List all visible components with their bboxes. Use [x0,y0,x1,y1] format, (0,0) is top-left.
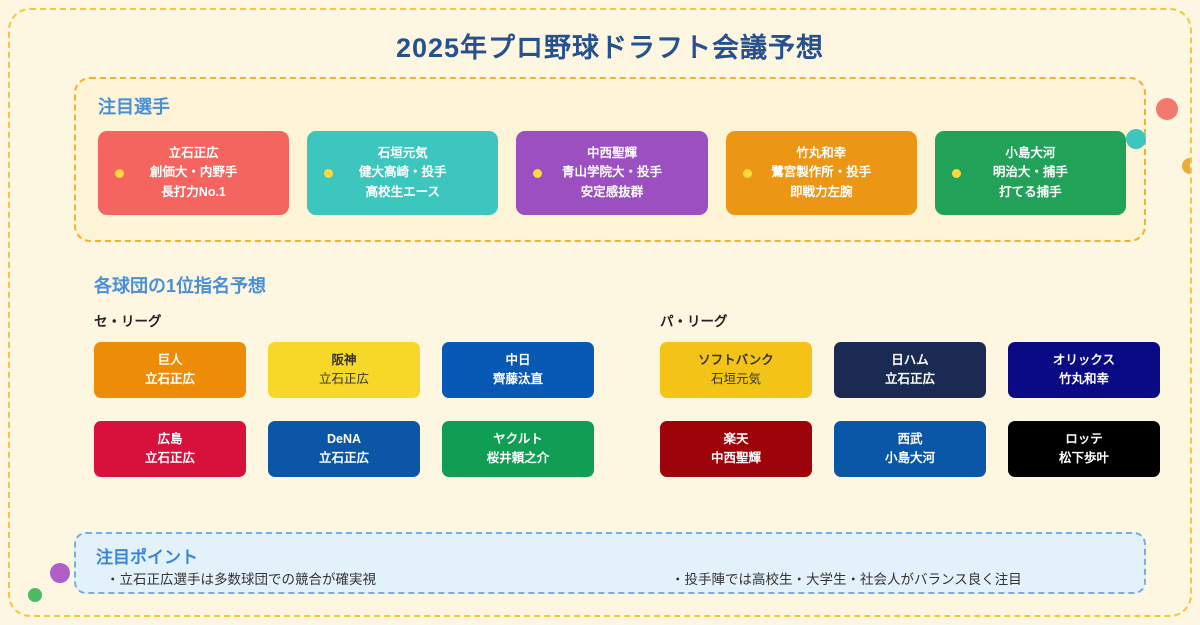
player-note: 安定感抜群 [581,183,644,202]
player-name: 中西聖輝 [587,144,637,163]
decorative-dot-orange [1182,158,1192,174]
bullet-dot-icon [533,169,542,178]
team-card[interactable]: オリックス竹丸和幸 [1008,342,1160,398]
team-card[interactable]: 巨人立石正広 [94,342,246,398]
featured-players-row: 立石正広創価大・内野手長打力No.1石垣元気健大高崎・投手高校生エース中西聖輝青… [98,131,1126,215]
league-pacific-label: パ・リーグ [660,310,1160,330]
team-card[interactable]: DeNA立石正広 [268,421,420,477]
team-pick: 石垣元気 [711,370,761,389]
notes-items: ・立石正広選手は多数球団での競合が確実視・投手陣では高校生・大学生・社会人がバラ… [106,568,1116,588]
decorative-dot-pink [1156,98,1178,120]
team-card[interactable]: 中日齊藤汰直 [442,342,594,398]
bullet-dot-icon [324,169,333,178]
featured-players-heading: 注目選手 [98,93,170,119]
team-card[interactable]: 楽天中西聖輝 [660,421,812,477]
team-name: 日ハム [891,351,929,370]
player-name: 竹丸和幸 [796,144,846,163]
league-pacific-grid: ソフトバンク石垣元気日ハム立石正広オリックス竹丸和幸楽天中西聖輝西武小島大河ロッ… [660,342,1160,477]
team-name: オリックス [1053,351,1115,370]
team-card[interactable]: 日ハム立石正広 [834,342,986,398]
team-pick: 松下歩叶 [1059,449,1109,468]
team-card[interactable]: 西武小島大河 [834,421,986,477]
team-pick: 桜井頼之介 [487,449,550,468]
featured-players-panel: 注目選手 立石正広創価大・内野手長打力No.1石垣元気健大高崎・投手高校生エース… [74,77,1146,242]
note-item: ・投手陣では高校生・大学生・社会人がバランス良く注目 [611,568,1116,588]
bullet-dot-icon [115,169,124,178]
player-name: 小島大河 [1005,144,1055,163]
team-card[interactable]: ヤクルト桜井頼之介 [442,421,594,477]
team-pick: 立石正広 [145,449,195,468]
player-affiliation: 明治大・捕手 [993,163,1068,182]
player-note: 高校生エース [366,183,440,202]
team-name: 楽天 [723,430,748,449]
player-note: 打てる捕手 [999,183,1062,202]
bullet-dot-icon [743,169,752,178]
league-pacific: パ・リーグ ソフトバンク石垣元気日ハム立石正広オリックス竹丸和幸楽天中西聖輝西武… [660,310,1160,477]
team-name: 西武 [897,430,922,449]
decorative-dot-green [28,588,42,602]
notes-panel: 注目ポイント ・立石正広選手は多数球団での競合が確実視・投手陣では高校生・大学生… [74,532,1146,594]
team-card[interactable]: ロッテ松下歩叶 [1008,421,1160,477]
team-pick: 立石正広 [319,370,369,389]
team-name: 巨人 [157,351,182,370]
note-item: ・立石正広選手は多数球団での競合が確実視 [106,568,611,588]
league-central: セ・リーグ 巨人立石正広阪神立石正広中日齊藤汰直広島立石正広DeNA立石正広ヤク… [94,310,594,477]
player-name: 石垣元気 [378,144,428,163]
league-central-label: セ・リーグ [94,310,594,330]
team-pick: 中西聖輝 [711,449,761,468]
decorative-dot-teal [1126,129,1146,149]
team-name: ヤクルト [493,430,543,449]
team-pick: 立石正広 [885,370,935,389]
player-affiliation: 鷺宮製作所・投手 [771,163,871,182]
team-name: 中日 [505,351,530,370]
team-name: ロッテ [1065,430,1103,449]
infographic-page: 2025年プロ野球ドラフト会議予想 注目選手 立石正広創価大・内野手長打力No.… [8,8,1192,617]
page-title: 2025年プロ野球ドラフト会議予想 [10,26,1192,65]
player-note: 即戦力左腕 [790,183,853,202]
team-name: 広島 [157,430,182,449]
player-affiliation: 健大高崎・投手 [359,163,447,182]
player-affiliation: 創価大・内野手 [150,163,238,182]
player-card[interactable]: 竹丸和幸鷺宮製作所・投手即戦力左腕 [726,131,917,215]
team-card[interactable]: ソフトバンク石垣元気 [660,342,812,398]
decorative-dot-purple [50,563,70,583]
team-card[interactable]: 阪神立石正広 [268,342,420,398]
player-name: 立石正広 [169,144,219,163]
player-card[interactable]: 立石正広創価大・内野手長打力No.1 [98,131,289,215]
player-note: 長打力No.1 [161,183,226,202]
team-name: DeNA [327,430,361,449]
team-pick: 立石正広 [319,449,369,468]
bullet-dot-icon [952,169,961,178]
team-pick: 齊藤汰直 [493,370,543,389]
league-central-grid: 巨人立石正広阪神立石正広中日齊藤汰直広島立石正広DeNA立石正広ヤクルト桜井頼之… [94,342,594,477]
notes-heading: 注目ポイント [96,543,198,568]
player-card[interactable]: 中西聖輝青山学院大・投手安定感抜群 [516,131,707,215]
player-card[interactable]: 小島大河明治大・捕手打てる捕手 [935,131,1126,215]
team-card[interactable]: 広島立石正広 [94,421,246,477]
player-affiliation: 青山学院大・投手 [562,163,662,182]
team-pick: 小島大河 [885,449,935,468]
team-pick: 立石正広 [145,370,195,389]
team-name: ソフトバンク [698,351,774,370]
predictions-heading: 各球団の1位指名予想 [94,272,266,298]
team-pick: 竹丸和幸 [1059,370,1109,389]
player-card[interactable]: 石垣元気健大高崎・投手高校生エース [307,131,498,215]
team-name: 阪神 [331,351,356,370]
